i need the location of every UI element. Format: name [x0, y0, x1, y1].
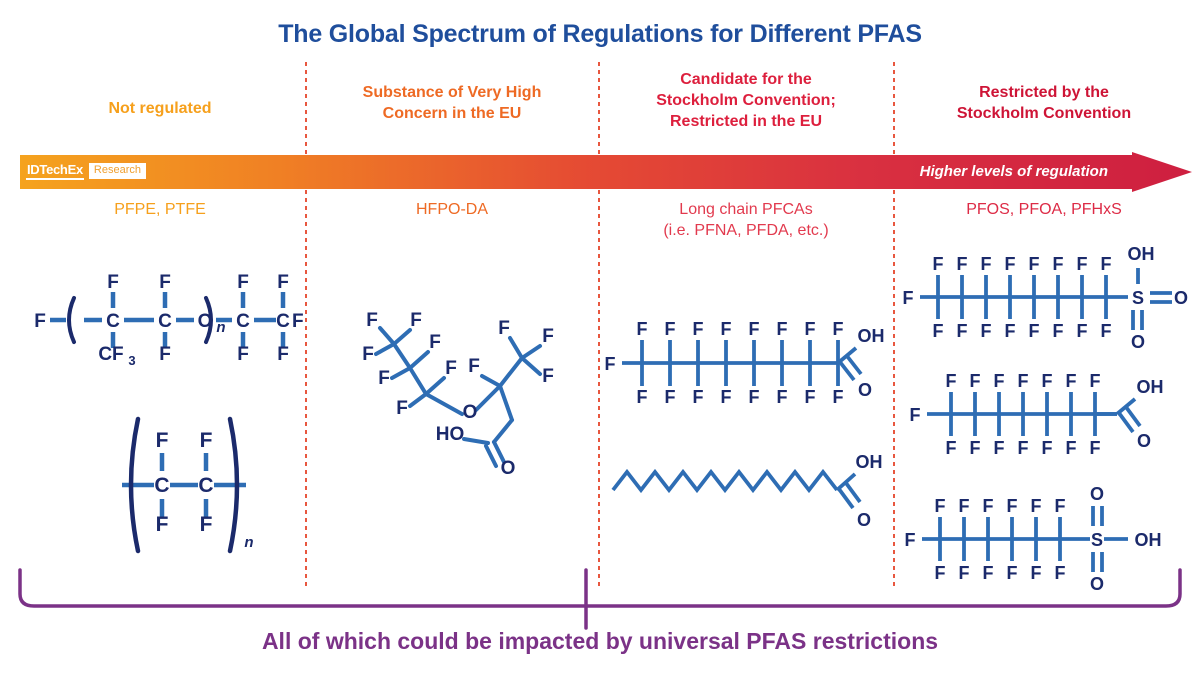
svg-text:F: F [933, 321, 944, 341]
svg-text:F: F [637, 319, 648, 339]
chemical-label-line: (i.e. PFNA, PFDA, etc.) [663, 222, 828, 239]
svg-text:F: F [1090, 371, 1101, 391]
svg-text:F: F [905, 530, 916, 550]
svg-text:F: F [237, 344, 249, 365]
svg-text:F: F [1018, 371, 1029, 391]
svg-text:F: F [156, 513, 169, 536]
svg-text:F: F [981, 321, 992, 341]
structure-pfpe: F C C O C C F F F F F F F CF 3 n F [28, 258, 298, 378]
page-title: The Global Spectrum of Regulations for D… [0, 20, 1200, 49]
svg-text:O: O [1174, 288, 1188, 308]
svg-text:3: 3 [128, 353, 135, 368]
svg-text:F: F [366, 310, 378, 331]
svg-text:F: F [277, 272, 289, 293]
svg-text:F: F [1077, 321, 1088, 341]
structure-long-chain-pfca: F FFFF FFFF FFFF FFFF OH O [600, 318, 885, 408]
svg-text:F: F [970, 438, 981, 458]
svg-text:C: C [236, 311, 250, 332]
svg-text:F: F [981, 254, 992, 274]
svg-text:HO: HO [436, 424, 465, 445]
structure-hfpo-da: F F F F F F F O F F F F O HO [358, 302, 578, 482]
column-header-not-regulated: Not regulated [20, 98, 300, 119]
svg-text:F: F [1029, 254, 1040, 274]
svg-text:O: O [858, 380, 872, 400]
svg-text:F: F [159, 272, 171, 293]
svg-text:OH: OH [858, 326, 885, 346]
svg-text:C: C [158, 311, 172, 332]
svg-text:F: F [935, 496, 946, 516]
column-header-line: Candidate for the [680, 71, 812, 88]
svg-text:F: F [1053, 254, 1064, 274]
svg-text:F: F [946, 438, 957, 458]
svg-text:C: C [198, 474, 213, 497]
svg-text:F: F [665, 387, 676, 407]
svg-text:F: F [1018, 438, 1029, 458]
svg-text:F: F [396, 398, 408, 419]
svg-text:F: F [159, 344, 171, 365]
column-header-line: Substance of Very High [363, 84, 542, 101]
structure-fatty-acid: OH O [605, 450, 885, 540]
svg-text:F: F [1042, 371, 1053, 391]
svg-text:F: F [1101, 254, 1112, 274]
svg-text:OH: OH [1135, 530, 1162, 550]
structure-pfos: F FFFF FFFF FFFF FFFF S OH O O [898, 242, 1188, 352]
svg-text:O: O [1131, 332, 1145, 352]
idtechex-logo: IDTechEx Research [26, 161, 146, 180]
svg-text:F: F [107, 272, 119, 293]
svg-text:F: F [156, 429, 169, 452]
logo-sub-text: Research [89, 163, 146, 179]
svg-text:F: F [1005, 321, 1016, 341]
svg-text:F: F [542, 326, 554, 347]
svg-text:F: F [933, 254, 944, 274]
svg-text:OH: OH [1128, 244, 1155, 264]
column-divider-3 [893, 62, 895, 587]
chemical-label-line: Long chain PFCAs [679, 201, 812, 218]
svg-text:F: F [721, 387, 732, 407]
logo-main-text: IDTechEx [26, 162, 84, 180]
chemical-label-pfpe-ptfe: PFPE, PTFE [20, 200, 300, 221]
svg-text:F: F [777, 319, 788, 339]
svg-text:O: O [501, 458, 516, 479]
svg-text:F: F [200, 429, 213, 452]
svg-text:F: F [946, 371, 957, 391]
svg-text:F: F [445, 358, 457, 379]
svg-text:F: F [1090, 438, 1101, 458]
svg-text:F: F [1005, 254, 1016, 274]
svg-text:F: F [805, 387, 816, 407]
svg-text:F: F [34, 311, 46, 332]
svg-text:F: F [777, 387, 788, 407]
svg-text:F: F [498, 318, 510, 339]
arrow-label: Higher levels of regulation [920, 163, 1108, 180]
svg-text:F: F [994, 438, 1005, 458]
column-divider-1 [305, 62, 307, 587]
svg-text:F: F [237, 272, 249, 293]
column-header-restricted-stockholm: Restricted by the Stockholm Convention [898, 82, 1190, 124]
column-header-line: Stockholm Convention; [656, 92, 836, 109]
column-header-line: Restricted by the [979, 84, 1109, 101]
column-header-line: Concern in the EU [383, 105, 522, 122]
structure-ptfe: C C F F F F n [108, 405, 268, 565]
column-header-svhc: Substance of Very High Concern in the EU [312, 82, 592, 124]
regulation-gradient-arrow: IDTechEx Research Higher levels of regul… [20, 152, 1192, 192]
svg-text:F: F [542, 366, 554, 387]
svg-text:F: F [957, 321, 968, 341]
svg-text:F: F [1031, 496, 1042, 516]
svg-text:F: F [970, 371, 981, 391]
svg-text:F: F [749, 319, 760, 339]
svg-text:F: F [605, 354, 616, 374]
svg-text:F: F [429, 332, 441, 353]
svg-text:O: O [463, 402, 478, 423]
svg-text:n: n [244, 534, 253, 551]
svg-text:OH: OH [856, 452, 883, 472]
svg-text:F: F [957, 254, 968, 274]
chemical-label-long-chain-pfcas: Long chain PFCAs (i.e. PFNA, PFDA, etc.) [604, 200, 888, 242]
svg-text:F: F [693, 319, 704, 339]
svg-text:F: F [805, 319, 816, 339]
svg-text:S: S [1132, 288, 1144, 308]
svg-text:O: O [1137, 431, 1151, 451]
svg-text:F: F [200, 513, 213, 536]
svg-text:F: F [1029, 321, 1040, 341]
structure-pfoa: F FFFF FFF FFFF FFF OH O [905, 372, 1190, 457]
column-header-line: Restricted in the EU [670, 113, 822, 130]
svg-text:F: F [983, 496, 994, 516]
svg-text:F: F [665, 319, 676, 339]
svg-text:F: F [277, 344, 289, 365]
svg-text:C: C [106, 311, 120, 332]
svg-text:F: F [1007, 496, 1018, 516]
svg-text:F: F [1055, 496, 1066, 516]
svg-text:n: n [216, 319, 225, 336]
svg-text:C: C [276, 311, 290, 332]
svg-text:F: F [1077, 254, 1088, 274]
svg-text:C: C [154, 474, 169, 497]
summary-bracket [0, 566, 1200, 636]
svg-text:F: F [833, 319, 844, 339]
svg-text:F: F [903, 288, 914, 308]
svg-text:OH: OH [1137, 377, 1164, 397]
summary-caption: All of which could be impacted by univer… [0, 628, 1200, 655]
svg-text:F: F [292, 311, 304, 332]
svg-text:O: O [198, 311, 213, 332]
svg-text:F: F [468, 356, 480, 377]
svg-text:F: F [1101, 321, 1112, 341]
svg-text:O: O [1090, 484, 1104, 504]
column-header-line: Not regulated [108, 100, 211, 117]
svg-text:F: F [637, 387, 648, 407]
svg-text:F: F [721, 319, 732, 339]
svg-text:O: O [857, 510, 871, 530]
svg-text:F: F [959, 496, 970, 516]
svg-text:F: F [1053, 321, 1064, 341]
svg-text:F: F [1066, 371, 1077, 391]
svg-text:F: F [410, 310, 422, 331]
svg-text:F: F [1042, 438, 1053, 458]
svg-text:F: F [749, 387, 760, 407]
chemical-label-hfpo-da: HFPO-DA [312, 200, 592, 221]
svg-text:F: F [1066, 438, 1077, 458]
svg-text:S: S [1091, 530, 1103, 550]
svg-text:F: F [362, 344, 374, 365]
svg-text:F: F [693, 387, 704, 407]
column-header-candidate-stockholm: Candidate for the Stockholm Convention; … [604, 69, 888, 132]
bracket-shape [0, 566, 1200, 636]
svg-text:CF: CF [98, 344, 123, 365]
svg-text:F: F [378, 368, 390, 389]
svg-text:F: F [994, 371, 1005, 391]
column-header-line: Stockholm Convention [957, 105, 1131, 122]
svg-text:F: F [833, 387, 844, 407]
svg-text:F: F [910, 405, 921, 425]
chemical-label-pfos-pfoa-pfhxs: PFOS, PFOA, PFHxS [898, 200, 1190, 221]
